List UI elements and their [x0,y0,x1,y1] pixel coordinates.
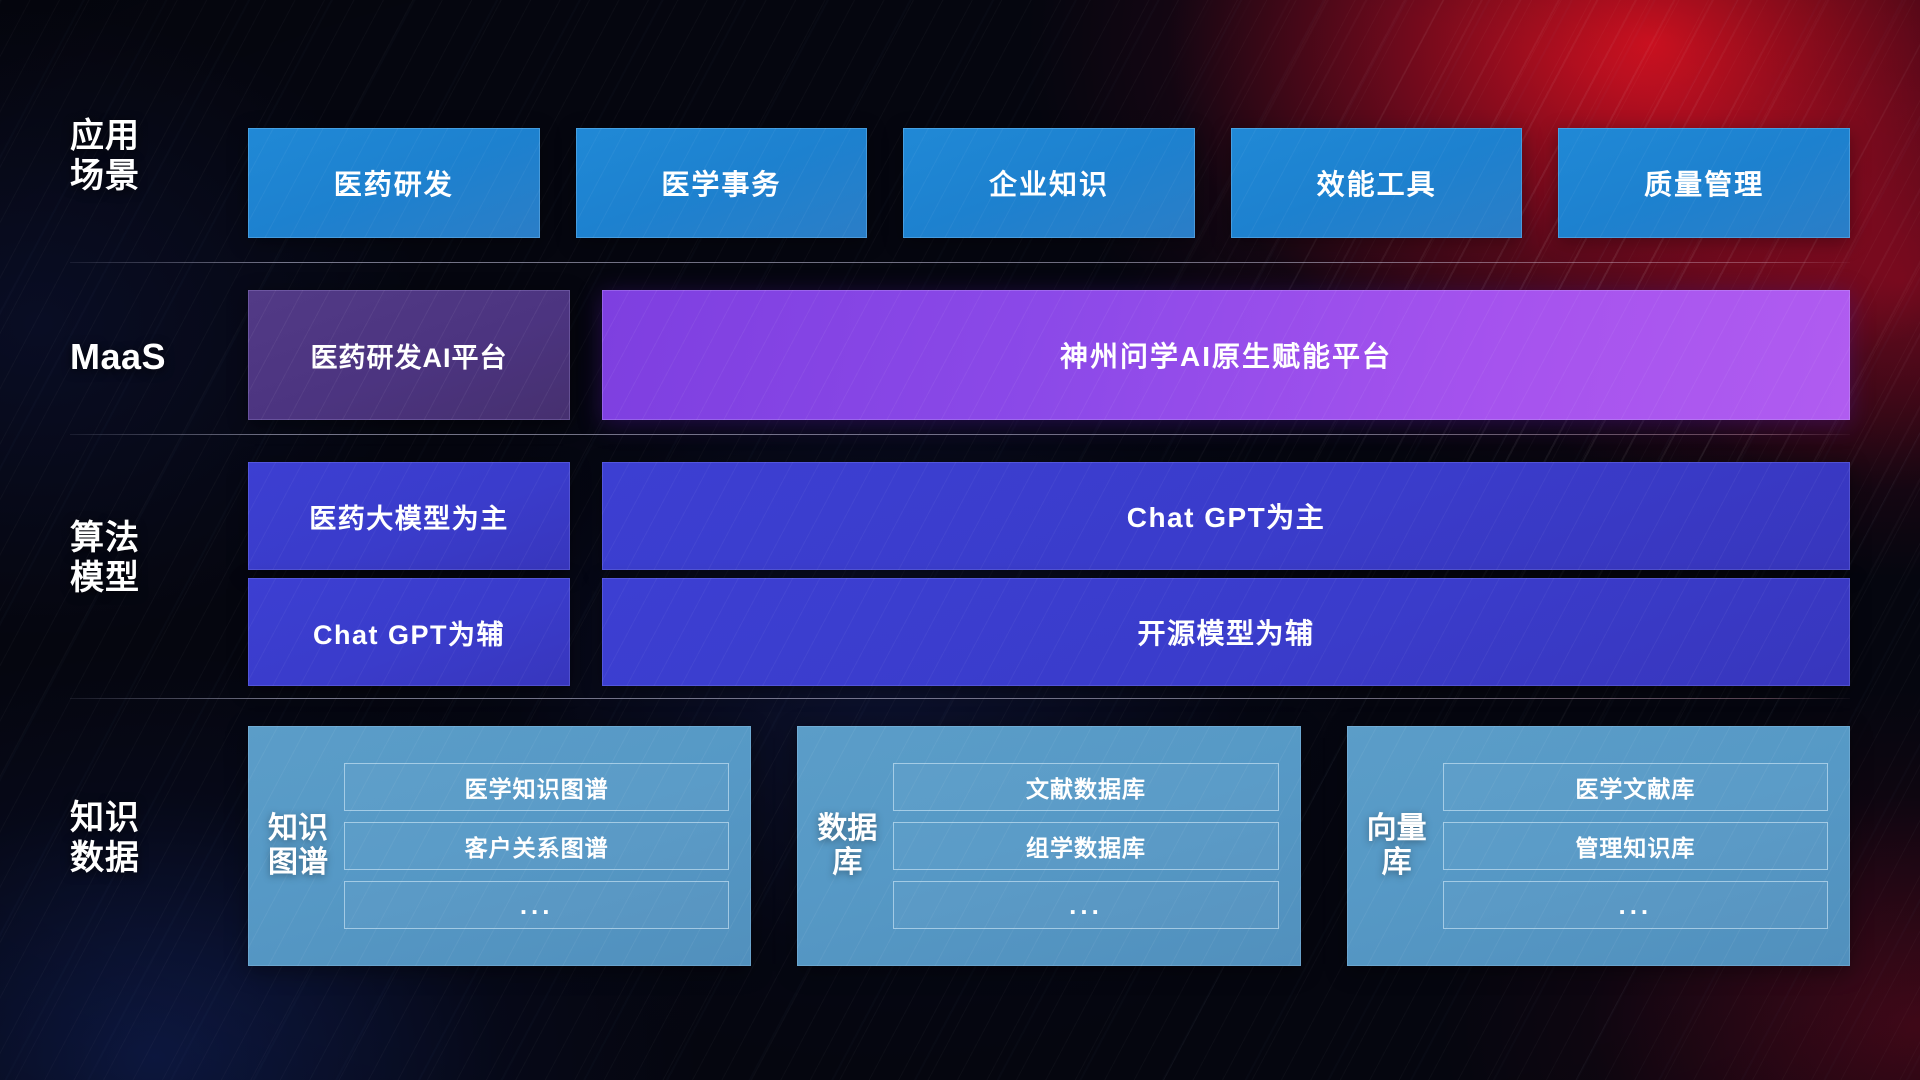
algorithm-right-secondary[interactable]: 开源模型为辅 [602,578,1850,686]
knowledge-item[interactable]: 文献数据库 [893,763,1278,811]
maas-left-label: 医药研发AI平台 [311,336,508,375]
divider-algorithm-knowledge [70,698,1850,699]
app-card-medical-affairs[interactable]: 医学事务 [576,128,868,238]
algorithm-right-label: Chat GPT为主 [1127,496,1326,536]
app-card-quality-management[interactable]: 质量管理 [1558,128,1850,238]
knowledge-group-knowledge-graph: 知识图谱 医学知识图谱 客户关系图谱 ... [248,726,751,966]
algorithm-line-primary: 医药大模型为主 Chat GPT为主 [248,462,1850,570]
knowledge-item[interactable]: 医学文献库 [1443,763,1828,811]
knowledge-item[interactable]: 组学数据库 [893,822,1278,870]
knowledge-item-more[interactable]: ... [344,881,729,929]
algorithm-left-primary[interactable]: 医药大模型为主 [248,462,570,570]
app-card-label: 效能工具 [1317,163,1437,203]
algorithm-left-secondary[interactable]: Chat GPT为辅 [248,578,570,686]
algorithm-left-label: Chat GPT为辅 [313,613,505,652]
knowledge-group-items: 医学知识图谱 客户关系图谱 ... [344,763,729,929]
knowledge-item[interactable]: 医学知识图谱 [344,763,729,811]
divider-application-maas [70,262,1850,263]
row-label-application-scenarios: 应用 场景 [70,116,200,196]
knowledge-group-items: 医学文献库 管理知识库 ... [1443,763,1828,929]
row-label-line: 模型 [70,558,200,598]
divider-maas-algorithm [70,434,1850,435]
knowledge-item[interactable]: 管理知识库 [1443,822,1828,870]
app-card-enterprise-knowledge[interactable]: 企业知识 [903,128,1195,238]
maas-right-label: 神州问学AI原生赋能平台 [1060,335,1392,375]
maas-platform-drug-rd[interactable]: 医药研发AI平台 [248,290,570,420]
row-label-line: 场景 [70,156,200,196]
row-label-line: 算法 [70,518,200,558]
knowledge-group-title: 知识图谱 [266,812,330,880]
row-label-algorithm-model: 算法 模型 [70,518,200,598]
row-label-line: MaaS [70,336,200,378]
row-label-maas: MaaS [70,336,200,378]
row-label-knowledge-data: 知识 数据 [70,798,200,878]
knowledge-group-title: 数据库 [815,812,879,880]
algorithm-line-secondary: Chat GPT为辅 开源模型为辅 [248,578,1850,686]
knowledge-item[interactable]: 客户关系图谱 [344,822,729,870]
app-card-label: 质量管理 [1644,163,1764,203]
knowledge-item-more[interactable]: ... [1443,881,1828,929]
algorithm-right-label: 开源模型为辅 [1137,612,1314,652]
app-card-efficiency-tools[interactable]: 效能工具 [1231,128,1523,238]
row-label-line: 数据 [70,838,200,878]
algorithm-right-primary[interactable]: Chat GPT为主 [602,462,1850,570]
knowledge-group-title: 向量库 [1365,812,1429,880]
knowledge-item-more[interactable]: ... [893,881,1278,929]
maas-platform-shenzhou-wenxue[interactable]: 神州问学AI原生赋能平台 [602,290,1850,420]
architecture-diagram: 应用 场景 医药研发 医学事务 企业知识 效能工具 质量管理 MaaS 医药研发… [0,0,1920,1080]
knowledge-group-database: 数据库 文献数据库 组学数据库 ... [797,726,1300,966]
algorithm-model-row: 医药大模型为主 Chat GPT为主 Chat GPT为辅 开源模型为辅 [248,462,1850,694]
app-card-label: 医学事务 [661,163,781,203]
application-scenario-cards: 医药研发 医学事务 企业知识 效能工具 质量管理 [248,128,1850,238]
app-card-drug-rd[interactable]: 医药研发 [248,128,540,238]
maas-row: 医药研发AI平台 神州问学AI原生赋能平台 [248,290,1850,420]
row-label-line: 应用 [70,116,200,156]
app-card-label: 医药研发 [334,163,454,203]
knowledge-group-vector-store: 向量库 医学文献库 管理知识库 ... [1347,726,1850,966]
row-label-line: 知识 [70,798,200,838]
knowledge-group-items: 文献数据库 组学数据库 ... [893,763,1278,929]
algorithm-left-label: 医药大模型为主 [309,497,509,536]
app-card-label: 企业知识 [989,163,1109,203]
knowledge-data-groups: 知识图谱 医学知识图谱 客户关系图谱 ... 数据库 文献数据库 组学数据库 .… [248,726,1850,966]
